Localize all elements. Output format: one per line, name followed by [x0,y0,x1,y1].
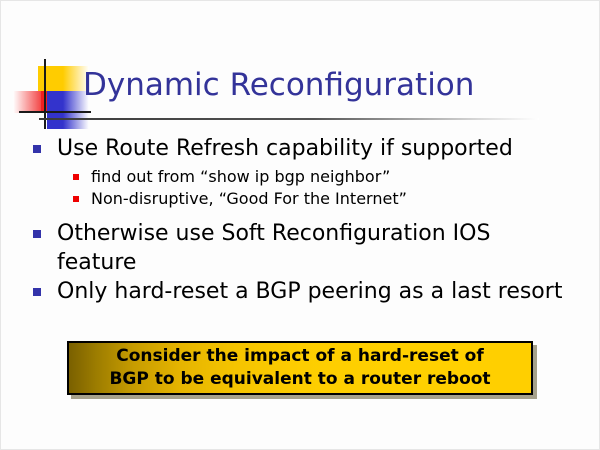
square-bullet-blue-icon [33,230,41,238]
square-bullet-red-icon [73,174,79,180]
spacer [1,210,600,219]
bullet-item-level2: find out from “show ip bgp neighbor” [1,166,600,188]
bullet-text: Otherwise use Soft Reconfiguration IOS f… [57,219,567,277]
bullet-item-level1: Otherwise use Soft Reconfiguration IOS f… [1,219,600,277]
crosshair-horizontal-icon [19,111,91,113]
bullet-item-level2: Non-disruptive, “Good For the Internet” [1,188,600,210]
callout-box: Consider the impact of a hard-reset of B… [67,341,533,395]
bullet-text: Non-disruptive, “Good For the Internet” [91,189,407,208]
bullet-text: find out from “show ip bgp neighbor” [91,167,390,186]
callout-line-2: BGP to be equivalent to a router reboot [109,368,490,391]
square-bullet-blue-icon [33,288,41,296]
slide-body: Use Route Refresh capability if supporte… [1,134,600,306]
square-bullet-red-icon [73,196,79,202]
slide-canvas: Dynamic Reconfiguration Use Route Refres… [0,0,600,450]
blue-square-icon [47,91,63,129]
bullet-item-level1: Only hard-reset a BGP peering as a last … [1,277,600,306]
slide-title: Dynamic Reconfiguration [83,67,474,103]
bullet-text: Use Route Refresh capability if supporte… [57,134,567,163]
bullet-text: Only hard-reset a BGP peering as a last … [57,277,567,306]
callout-line-1: Consider the impact of a hard-reset of [116,345,483,368]
bullet-item-level1: Use Route Refresh capability if supporte… [1,134,600,163]
yellow-square-icon [38,66,63,93]
title-underline-rule [39,118,539,120]
square-bullet-blue-icon [33,145,41,153]
